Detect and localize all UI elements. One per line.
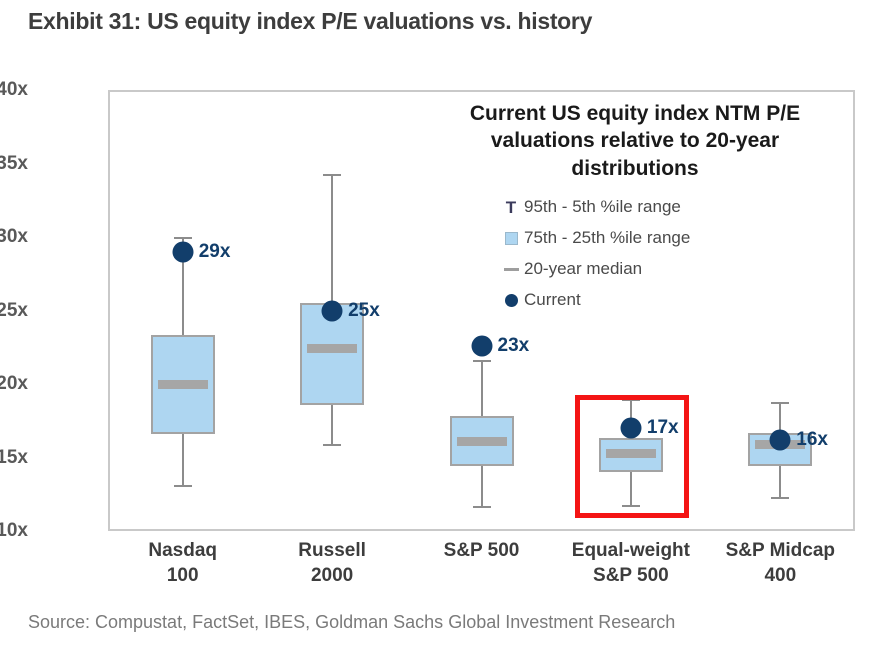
legend-row[interactable]: Current [498, 285, 850, 316]
y-axis-tick-label: 30x [0, 226, 28, 248]
x-axis-category-label: Equal-weightS&P 500 [572, 538, 690, 588]
whisker-cap-lower [473, 506, 491, 508]
legend-row[interactable]: 75th - 25th %ile range [498, 223, 850, 254]
category-label-line-2: 100 [148, 563, 217, 588]
y-axis-tick-label: 40x [0, 79, 28, 101]
category-label-line-2: 2000 [298, 563, 366, 588]
current-dot-icon [498, 290, 524, 310]
legend-row[interactable]: T95th - 5th %ile range [498, 192, 850, 223]
category-label-line-1: S&P 500 [444, 540, 520, 561]
y-axis-tick-label: 10x [0, 520, 28, 542]
legend-label: 75th - 25th %ile range [524, 228, 690, 248]
legend-items: T95th - 5th %ile range75th - 25th %ile r… [420, 192, 850, 316]
whisker-cap-upper [473, 360, 491, 362]
category-label-line-1: Nasdaq [148, 540, 217, 561]
category-label-line-1: Russell [298, 540, 366, 561]
x-axis-category-label: S&P 500 [444, 538, 520, 563]
category-label-line-2: 400 [726, 563, 835, 588]
whisker-cap-upper [174, 237, 192, 239]
category-label-line-1: Equal-weight [572, 540, 690, 561]
current-value-dot[interactable] [471, 335, 492, 356]
current-value-label: 23x [498, 335, 530, 357]
median-dash-icon [498, 259, 524, 279]
iqr-square-icon [498, 228, 524, 248]
x-axis-category-label: Nasdaq100 [148, 538, 217, 588]
y-axis-tick-label: 25x [0, 300, 28, 322]
whisker-cap-lower [174, 485, 192, 487]
legend-title-line-3: distributions [571, 157, 698, 180]
legend-label: Current [524, 290, 581, 310]
current-value-label: 16x [796, 429, 828, 451]
y-axis-tick-label: 15x [0, 447, 28, 469]
whisker-cap-lower [771, 497, 789, 499]
legend-title: Current US equity index NTM P/E valuatio… [420, 100, 850, 182]
highlight-callout-box [575, 395, 689, 518]
x-axis-category-label: S&P Midcap400 [726, 538, 835, 588]
chart-legend: Current US equity index NTM P/E valuatio… [420, 100, 850, 316]
whisker-cap-lower [323, 444, 341, 446]
current-value-dot[interactable] [172, 241, 193, 262]
y-axis-tick-label: 20x [0, 373, 28, 395]
current-value-label: 25x [348, 300, 380, 322]
whisker-cap-upper [323, 174, 341, 176]
legend-title-line-2: valuations relative to 20-year [491, 129, 779, 152]
legend-label: 95th - 5th %ile range [524, 197, 681, 217]
median-bar [307, 344, 357, 353]
category-label-line-2: S&P 500 [572, 563, 690, 588]
range-bar-icon: T [498, 197, 524, 217]
current-value-dot[interactable] [322, 300, 343, 321]
box-plot-chart: 40x35x30x25x20x15x10x Nasdaq100Russell20… [0, 0, 887, 610]
legend-row[interactable]: 20-year median [498, 254, 850, 285]
legend-title-line-1: Current US equity index NTM P/E [470, 102, 800, 125]
current-value-label: 29x [199, 241, 231, 263]
x-axis-category-label: Russell2000 [298, 538, 366, 588]
legend-label: 20-year median [524, 259, 642, 279]
category-label-line-1: S&P Midcap [726, 540, 835, 561]
median-bar [158, 380, 208, 389]
median-bar [457, 437, 507, 446]
y-axis-tick-label: 35x [0, 153, 28, 175]
current-value-dot[interactable] [770, 429, 791, 450]
source-note: Source: Compustat, FactSet, IBES, Goldma… [28, 612, 675, 633]
whisker-cap-upper [771, 402, 789, 404]
